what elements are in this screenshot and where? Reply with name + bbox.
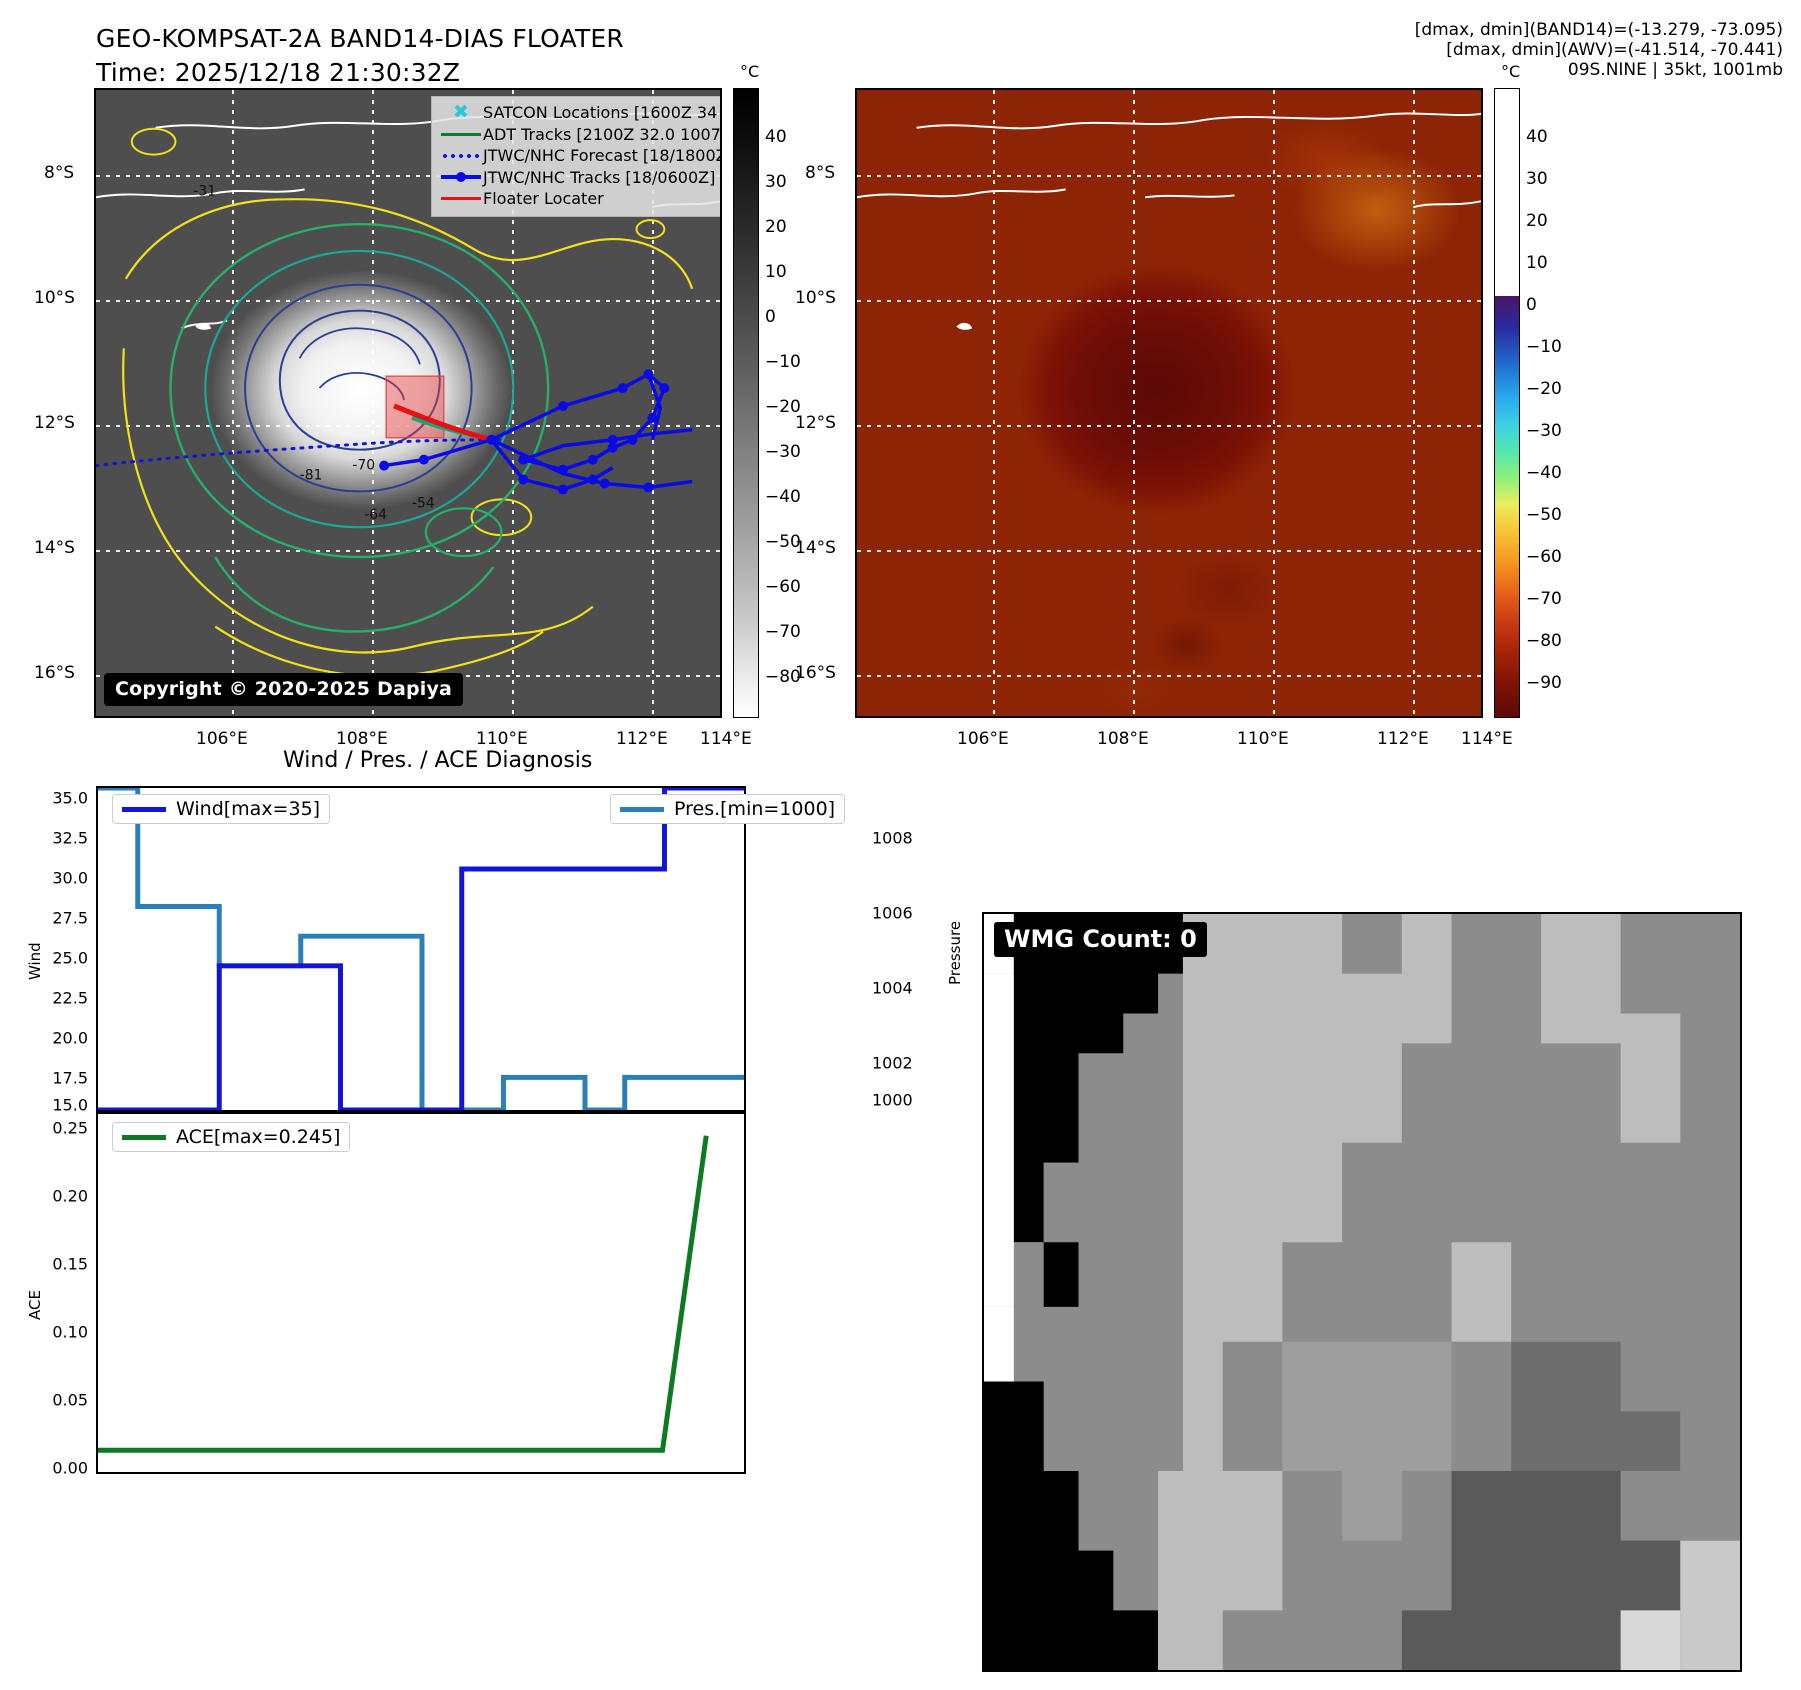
ace-tick: 0.25 [20, 1119, 88, 1138]
ace-tick: 0.20 [20, 1187, 88, 1206]
ir-legend[interactable]: ✖ SATCON Locations [1600Z 34 1005] ADT T… [431, 96, 722, 217]
product-time: Time: 2025/12/18 21:30:32Z [96, 56, 624, 90]
wind-tick: 35.0 [20, 789, 88, 808]
awv-lat-tick: 12°S [795, 413, 836, 433]
awv-lat-tick: 8°S [805, 163, 835, 183]
awv-overlay-vectors [857, 90, 1481, 716]
ace-color-swatch [122, 1135, 166, 1140]
wind-tick: 30.0 [20, 869, 88, 888]
ace-tick: 0.05 [20, 1391, 88, 1410]
ace-axis-label: ACE [26, 1290, 44, 1320]
wind-pressure-series [98, 788, 744, 1110]
awv-lat-tick: 16°S [795, 663, 836, 683]
annotation-storm-id: 09S.NINE | 35kt, 1001mb [1415, 60, 1783, 80]
legend-item-forecast[interactable]: JTWC/NHC Forecast [18/1800Z] [439, 145, 722, 167]
legend-label-tracks: JTWC/NHC Tracks [18/0600Z] [483, 167, 715, 189]
awv-lon-tick: 106°E [957, 729, 1009, 749]
wmg-imagery [984, 914, 1740, 1670]
ir-lon-tick: 106°E [196, 729, 248, 749]
wind-tick: 20.0 [20, 1029, 88, 1048]
ace-legend[interactable]: ACE[max=0.245] [112, 1122, 350, 1152]
awv-satellite-image-panel[interactable] [855, 88, 1483, 718]
ace-series [98, 1114, 744, 1472]
diagnosis-title: Wind / Pres. / ACE Diagnosis [283, 748, 592, 773]
wind-tick: 27.5 [20, 909, 88, 928]
wind-tick: 22.5 [20, 989, 88, 1008]
svg-text:-31: -31 [193, 183, 216, 199]
wmg-count-label: WMG Count: 0 [994, 922, 1207, 957]
wind-color-swatch [122, 807, 166, 812]
annotation-band14: [dmax, dmin](BAND14)=(-13.279, -73.095) [1415, 20, 1783, 40]
solid-line-icon [439, 197, 483, 200]
ir-satellite-image-panel[interactable]: -31 -70 -81 -64 -54 [94, 88, 722, 718]
awv-colorbar[interactable] [1494, 88, 1520, 718]
pressure-legend-label: Pres.[min=1000] [674, 798, 835, 820]
page-title: GEO-KOMPSAT-2A BAND14-DIAS FLOATER Time:… [96, 22, 624, 90]
awv-lon-tick: 110°E [1237, 729, 1289, 749]
wind-tick: 17.5 [20, 1069, 88, 1088]
ace-tick: 0.15 [20, 1255, 88, 1274]
pressure-tick: 1000 [872, 1091, 932, 1110]
wmg-panel[interactable]: WMG Count: 0 [982, 912, 1742, 1672]
ir-colorbar[interactable] [733, 88, 759, 718]
ir-lat-tick: 8°S [44, 163, 74, 183]
annotation-awv: [dmax, dmin](AWV)=(-41.514, -70.441) [1415, 40, 1783, 60]
ir-lat-tick: 10°S [34, 288, 75, 308]
ir-lat-tick: 16°S [34, 663, 75, 683]
legend-label-adt: ADT Tracks [2100Z 32.0 1007.0] [483, 124, 722, 146]
ace-tick: 0.10 [20, 1323, 88, 1342]
pressure-color-swatch [620, 807, 664, 812]
awv-lon-tick: 108°E [1097, 729, 1149, 749]
wind-axis-label: Wind [26, 942, 44, 980]
ir-lat-tick: 14°S [34, 538, 75, 558]
header-annotations: [dmax, dmin](BAND14)=(-13.279, -73.095) … [1415, 20, 1783, 80]
wind-tick: 15.0 [20, 1096, 88, 1115]
ir-lon-tick: 112°E [616, 729, 668, 749]
line-dot-icon [439, 175, 483, 179]
awv-lon-tick: 112°E [1377, 729, 1429, 749]
awv-lat-tick: 10°S [795, 288, 836, 308]
pressure-tick: 1006 [872, 904, 932, 923]
ir-lon-tick: 114°E [700, 729, 752, 749]
pressure-tick: 1008 [872, 829, 932, 848]
svg-text:-64: -64 [364, 507, 387, 523]
solid-line-icon [439, 133, 483, 136]
legend-label-forecast: JTWC/NHC Forecast [18/1800Z] [483, 145, 722, 167]
legend-label-floater: Floater Locater [483, 188, 604, 210]
ir-colorbar-title: °C [740, 62, 759, 81]
wind-legend-label: Wind[max=35] [176, 798, 320, 820]
legend-item-adt[interactable]: ADT Tracks [2100Z 32.0 1007.0] [439, 124, 722, 146]
wind-tick: 32.5 [20, 829, 88, 848]
pressure-axis-label: Pressure [946, 921, 964, 985]
awv-lat-tick: 14°S [795, 538, 836, 558]
svg-text:-54: -54 [412, 495, 435, 511]
legend-item-floater[interactable]: Floater Locater [439, 188, 722, 210]
ace-legend-label: ACE[max=0.245] [176, 1126, 340, 1148]
ir-lat-tick: 12°S [34, 413, 75, 433]
legend-item-satcon[interactable]: ✖ SATCON Locations [1600Z 34 1005] [439, 102, 722, 124]
awv-lon-tick: 114°E [1461, 729, 1513, 749]
dotted-line-icon [439, 154, 483, 158]
pressure-legend[interactable]: Pres.[min=1000] [610, 794, 845, 824]
ace-tick: 0.00 [20, 1459, 88, 1478]
x-marker-icon: ✖ [439, 103, 483, 122]
ace-chart[interactable] [96, 1112, 746, 1474]
copyright-banner: Copyright © 2020-2025 Dapiya [104, 673, 463, 706]
pressure-tick: 1002 [872, 1054, 932, 1073]
svg-text:-81: -81 [300, 468, 323, 484]
product-title: GEO-KOMPSAT-2A BAND14-DIAS FLOATER [96, 22, 624, 56]
legend-label-satcon: SATCON Locations [1600Z 34 1005] [483, 102, 722, 124]
wind-pressure-chart[interactable] [96, 786, 746, 1112]
ir-lon-tick: 108°E [336, 729, 388, 749]
svg-text:-70: -70 [352, 458, 375, 474]
wind-legend[interactable]: Wind[max=35] [112, 794, 330, 824]
ir-lon-tick: 110°E [476, 729, 528, 749]
pressure-tick: 1004 [872, 979, 932, 998]
awv-colorbar-title: °C [1501, 62, 1520, 81]
legend-item-tracks[interactable]: JTWC/NHC Tracks [18/0600Z] [439, 167, 722, 189]
